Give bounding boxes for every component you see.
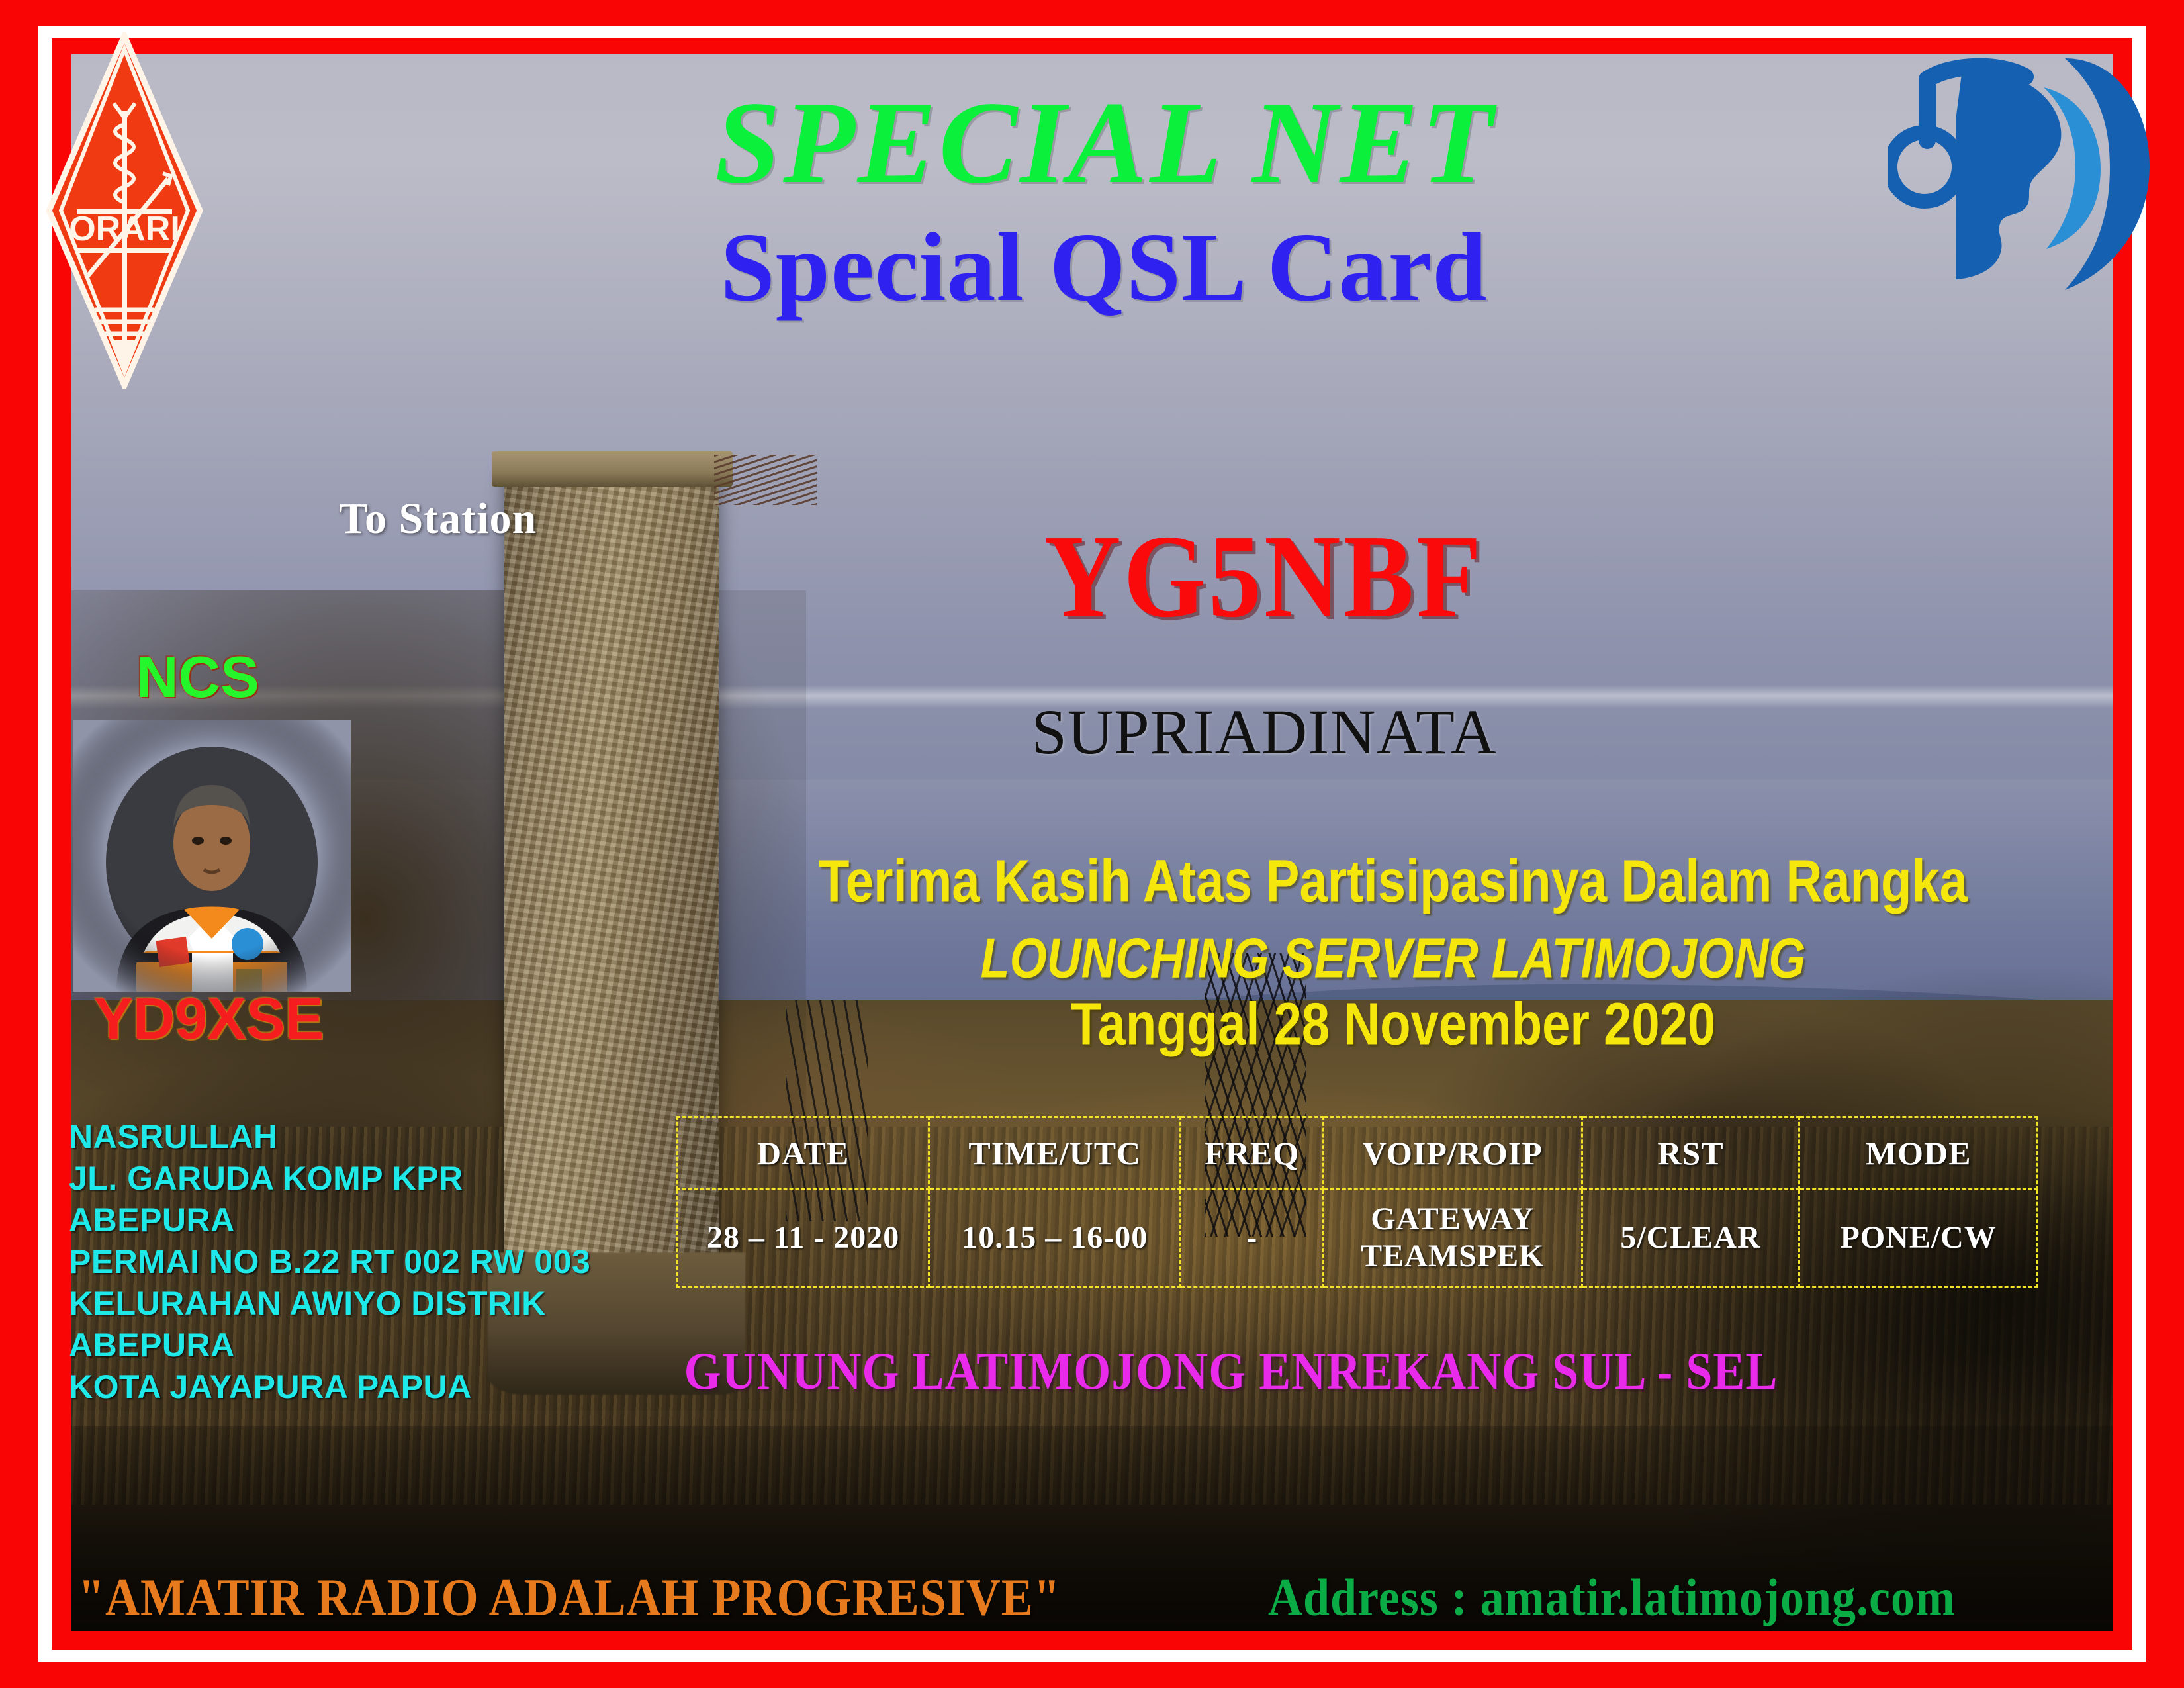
cell-mode: PONE/CW bbox=[1799, 1190, 2038, 1287]
address-line: KOTA JAYAPURA PAPUA bbox=[69, 1366, 590, 1408]
column-header-time-utc: TIME/UTC bbox=[929, 1117, 1181, 1190]
column-header-mode: MODE bbox=[1799, 1117, 2038, 1190]
address-line: JL. GARUDA KOMP KPR bbox=[69, 1158, 590, 1199]
cell-voip-roip-line1: GATEWAY bbox=[1325, 1201, 1580, 1238]
qsl-card: ORARI SPECIAL NET Special QSL Card To St… bbox=[0, 0, 2184, 1688]
table-row: 28 – 11 - 2020 10.15 – 16-00 - GATEWAY T… bbox=[678, 1190, 2038, 1287]
ncs-callsign: YD9XSE bbox=[94, 985, 324, 1053]
address-line: PERMAI NO B.22 RT 002 RW 003 bbox=[69, 1241, 590, 1283]
cell-date: 28 – 11 - 2020 bbox=[678, 1190, 929, 1287]
thanks-line-1: Terima Kasih Atas Partisipasinya Dalam R… bbox=[715, 852, 2071, 912]
cell-voip-roip: GATEWAY TEAMSPEK bbox=[1324, 1190, 1582, 1287]
content-layer: ORARI SPECIAL NET Special QSL Card To St… bbox=[0, 0, 2184, 1688]
to-station-label: To Station bbox=[339, 494, 537, 544]
cell-voip-roip-line2: TEAMSPEK bbox=[1325, 1238, 1580, 1275]
recipient-callsign: YG5NBF bbox=[834, 516, 1694, 635]
cell-time: 10.15 – 16-00 bbox=[929, 1190, 1181, 1287]
thanks-line-2-event: LOUNCHING SERVER LATIMOJONG bbox=[715, 931, 2071, 987]
operator-portrait-photo bbox=[73, 720, 351, 992]
cell-freq: - bbox=[1181, 1190, 1324, 1287]
column-header-rst: RST bbox=[1582, 1117, 1799, 1190]
cell-rst: 5/CLEAR bbox=[1582, 1190, 1799, 1287]
column-header-date: DATE bbox=[678, 1117, 929, 1190]
ncs-label: NCS bbox=[136, 643, 259, 711]
address-line: ABEPURA bbox=[69, 1199, 590, 1241]
location-caption: GUNUNG LATIMOJONG ENREKANG SUL - SEL bbox=[569, 1340, 1893, 1402]
address-line: KELURAHAN AWIYO DISTRIK bbox=[69, 1283, 590, 1325]
page-title-special-net: SPECIAL NET bbox=[0, 83, 2184, 201]
footer-slogan: "AMATIR RADIO ADALAH PROGRESIVE" bbox=[78, 1568, 1061, 1628]
column-header-freq: FREQ bbox=[1181, 1117, 1324, 1190]
address-line: NASRULLAH bbox=[69, 1116, 590, 1158]
recipient-operator-name: SUPRIADINATA bbox=[834, 700, 1694, 764]
address-line: ABEPURA bbox=[69, 1325, 590, 1366]
column-header-voip-roip: VOIP/ROIP bbox=[1324, 1117, 1582, 1190]
qso-log-table: DATE TIME/UTC FREQ VOIP/ROIP RST MODE 28… bbox=[676, 1116, 2038, 1288]
footer-web-address: Address : amatir.latimojong.com bbox=[1268, 1568, 1956, 1628]
page-subtitle-qsl-card: Special QSL Card bbox=[0, 218, 2184, 316]
thanks-line-3-date: Tanggal 28 November 2020 bbox=[715, 995, 2071, 1055]
ncs-postal-address: NASRULLAH JL. GARUDA KOMP KPR ABEPURA PE… bbox=[69, 1116, 590, 1408]
table-header-row: DATE TIME/UTC FREQ VOIP/ROIP RST MODE bbox=[678, 1117, 2038, 1190]
